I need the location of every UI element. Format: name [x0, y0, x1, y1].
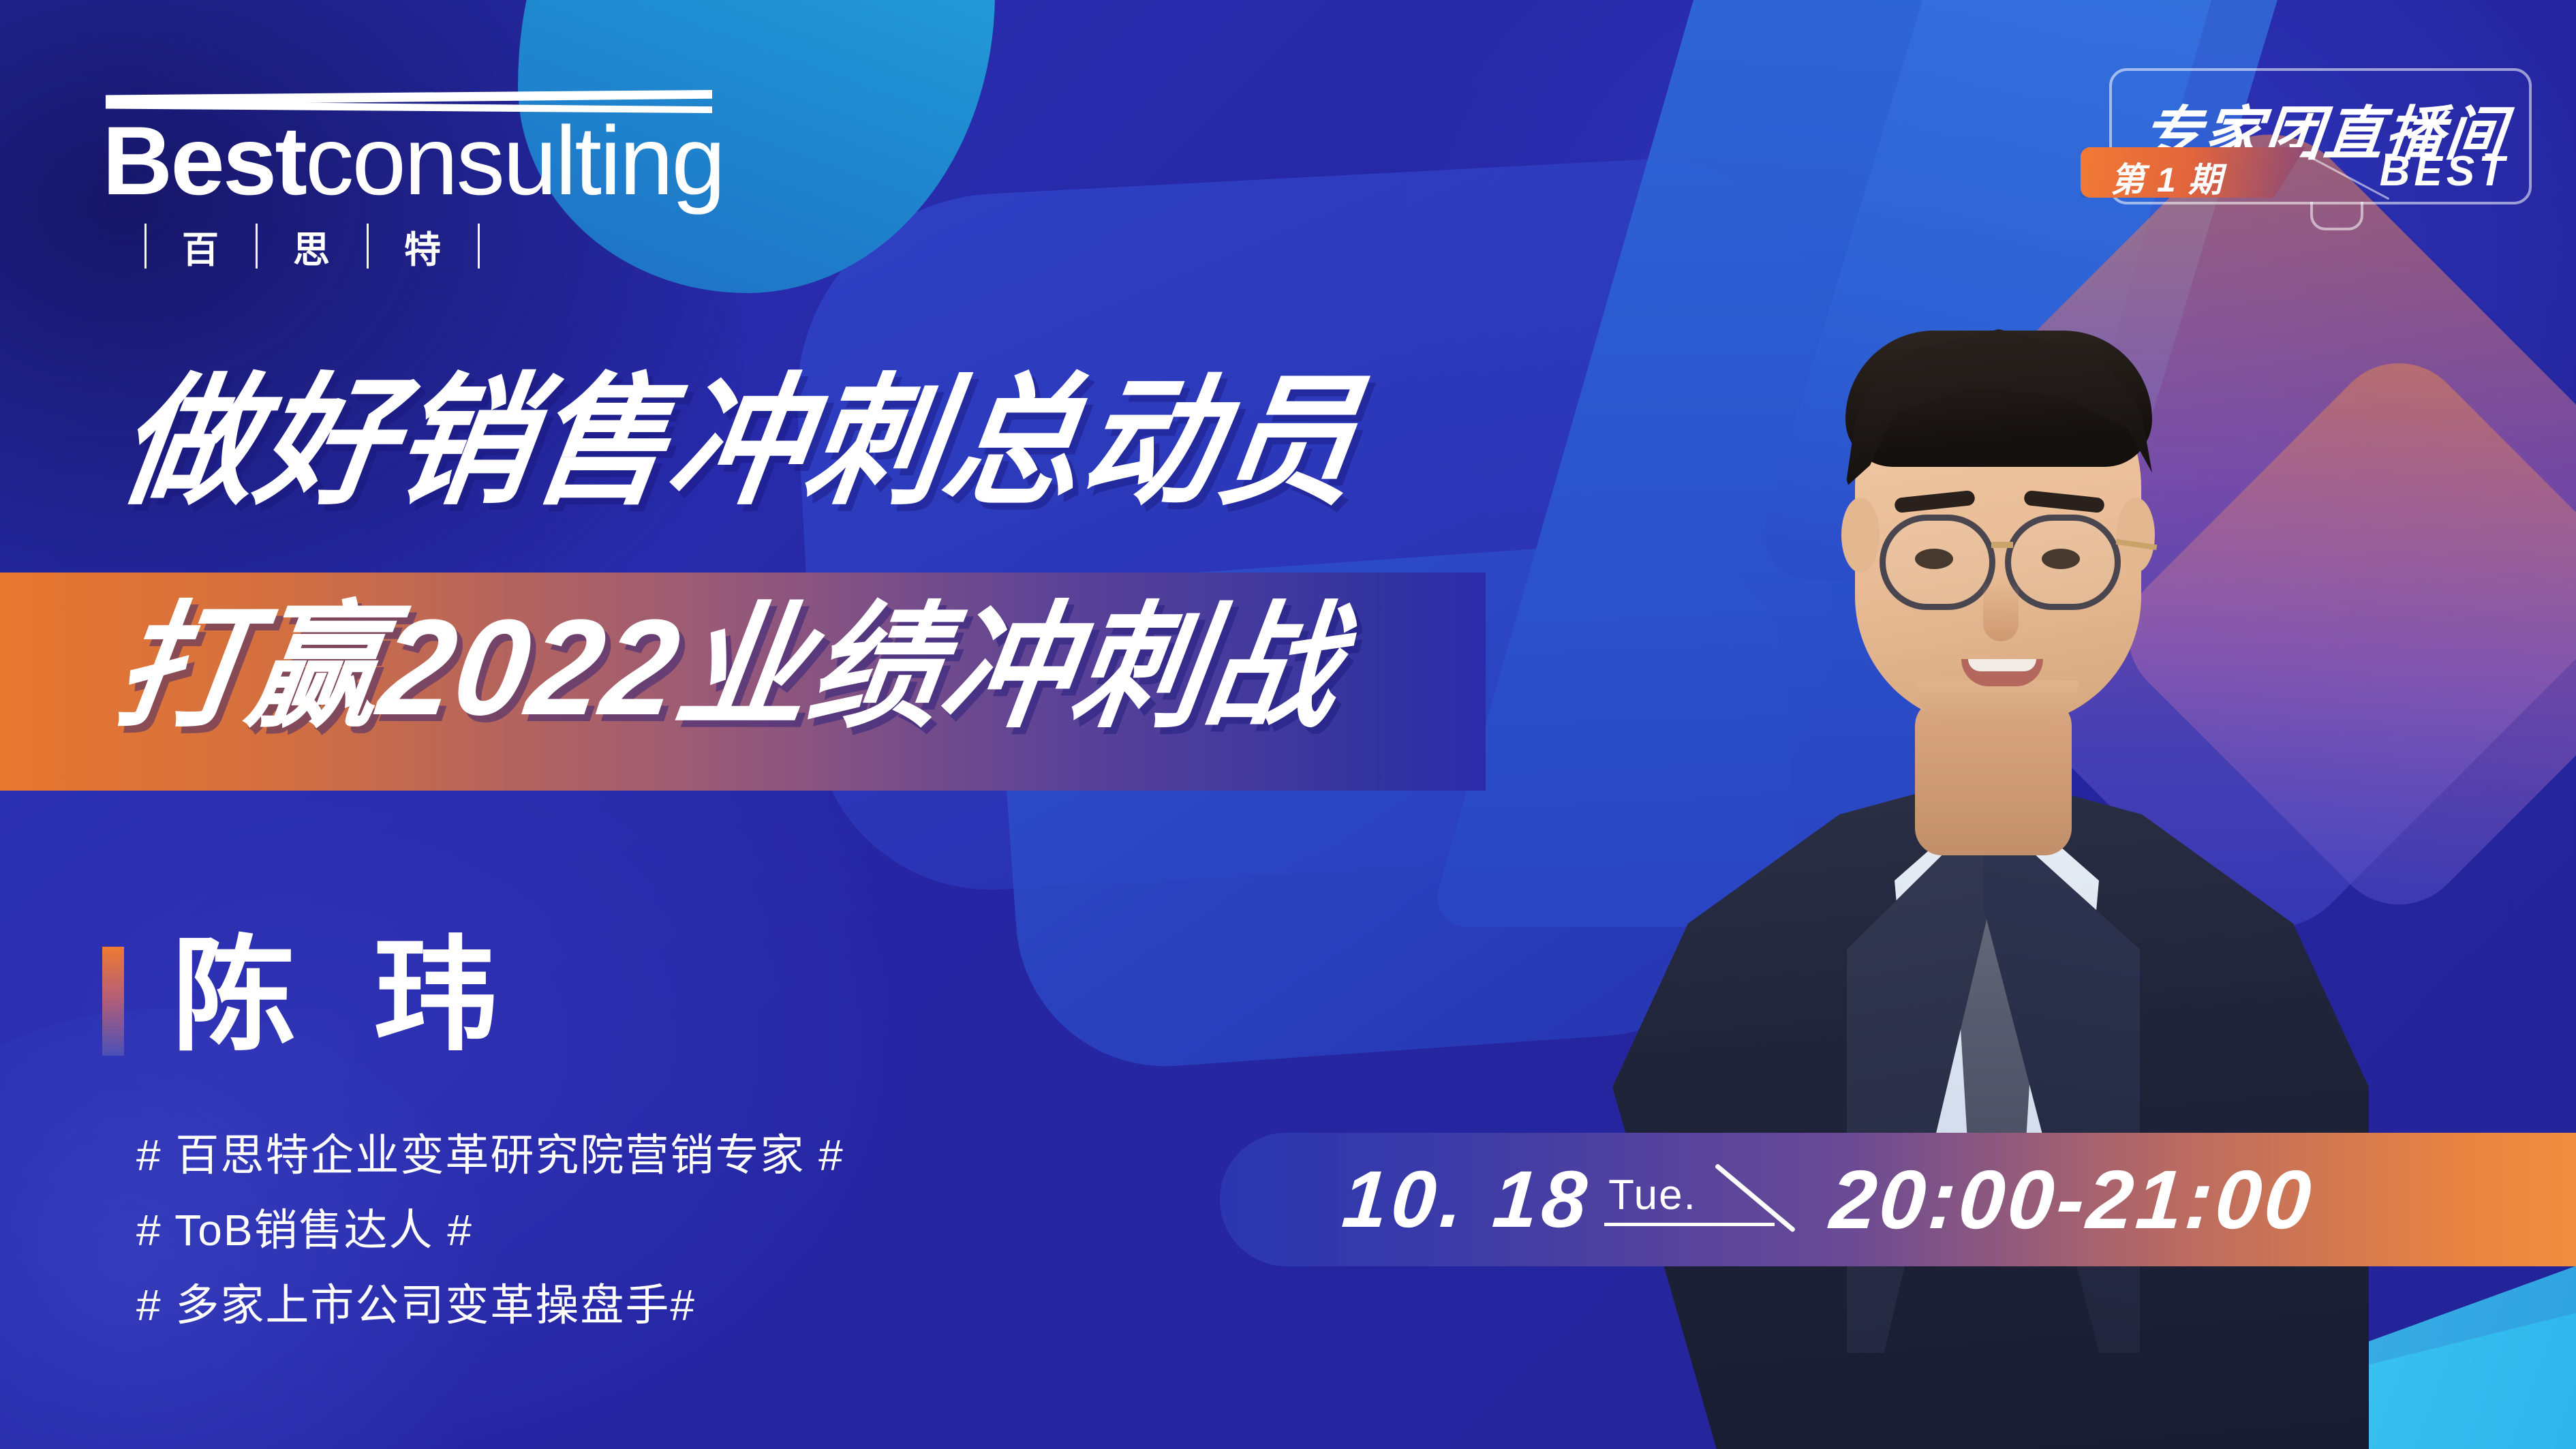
badge-episode-ribbon: 第 1 期 [2081, 147, 2305, 198]
poster-canvas: Bestconsulting 百 思 特 专家团直播间 第 1 期 BEST 做… [0, 0, 2576, 1449]
speaker-name-accent-bar [102, 947, 124, 1056]
schedule-bar: 10. 18 Tue. 20:00-21:00 [1220, 1133, 2576, 1266]
logo-cn-char-2: 思 [293, 219, 331, 273]
badge-speech-tail-icon [2310, 202, 2363, 230]
logo-divider-3 [367, 224, 369, 269]
badge-episode-label: 第 1 期 [2111, 153, 2224, 202]
logo-chinese-name: 百 思 特 [109, 219, 729, 273]
logo-divider-4 [478, 224, 480, 269]
logo-divider-1 [144, 224, 147, 269]
headline-line-2: 打赢2022业绩冲刺战 [108, 600, 1348, 736]
headline-line-1: 做好销售冲刺总动员 [111, 371, 1368, 513]
logo-cn-char-1: 百 [182, 219, 220, 273]
badge-brand-label: BEST [2380, 147, 2509, 196]
ear-left [1841, 498, 1880, 573]
eyeglasses-bridge [1991, 542, 2013, 548]
logo-swoosh-icon [106, 89, 712, 119]
logo-cn-char-3: 特 [404, 219, 442, 273]
logo-wordmark: Bestconsulting [102, 112, 729, 211]
teeth [1968, 659, 2036, 671]
schedule-date: 10. 18 [1339, 1153, 1594, 1246]
logo-wordmark-light: consulting [305, 107, 724, 215]
schedule-weekday: Tue. [1608, 1171, 1697, 1229]
eyeglasses-lens-right [2005, 515, 2121, 610]
schedule-slash-icon [1704, 1159, 1826, 1240]
brand-logo: Bestconsulting 百 思 特 [102, 89, 729, 273]
credential-item: # 百思特企业变革研究院营销专家 # [136, 1118, 844, 1193]
nose [1983, 583, 2019, 641]
live-room-badge: 专家团直播间 第 1 期 BEST [2109, 68, 2532, 204]
eyeglasses-lens-left [1880, 515, 1995, 610]
schedule-time-range: 20:00-21:00 [1827, 1152, 2316, 1247]
ear-right [2117, 498, 2155, 573]
chin [1915, 681, 2079, 729]
credential-item: # 多家上市公司变革操盘手# [136, 1268, 844, 1343]
speaker-credentials: # 百思特企业变革研究院营销专家 # # ToB销售达人 # # 多家上市公司变… [136, 1118, 844, 1343]
logo-wordmark-bold: Best [102, 107, 305, 215]
speaker-name: 陈 玮 [172, 934, 500, 1058]
speaker-name-row: 陈 玮 [102, 934, 500, 1058]
credential-item: # ToB销售达人 # [136, 1193, 844, 1268]
logo-divider-2 [256, 224, 258, 269]
